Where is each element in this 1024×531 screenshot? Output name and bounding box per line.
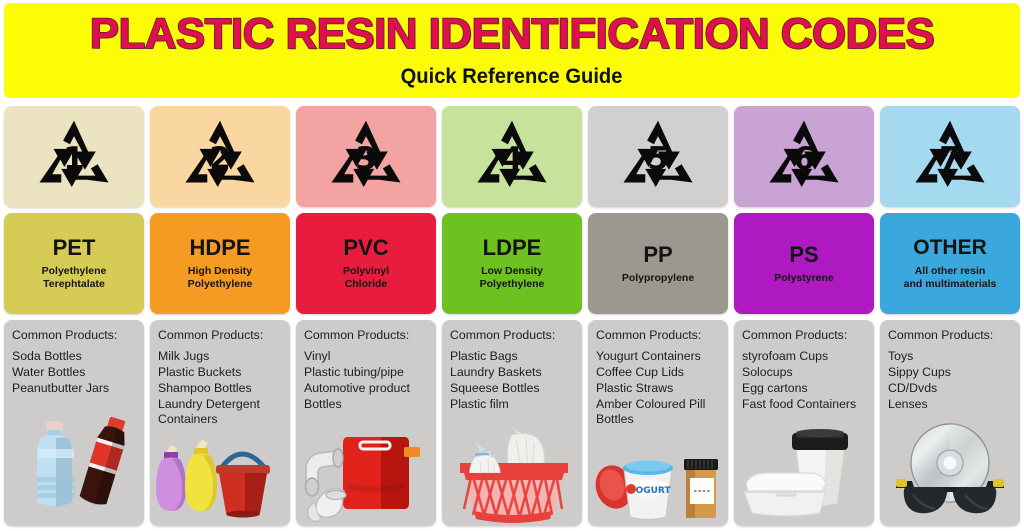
resin-fullname-line1: Polyvinyl (343, 265, 389, 278)
recycling-symbol-tile-7: 7 (880, 106, 1020, 207)
resin-number-6: 6 (793, 140, 815, 176)
list-item: Bottles (304, 397, 429, 413)
products-tile-4: Common Products: Plastic Bags Laundry Ba… (442, 320, 582, 526)
products-tile-3: Common Products: Vinyl Plastic tubing/pi… (296, 320, 436, 526)
resin-column-4: 4 LDPE Low Density Polyethylene Common P… (442, 106, 582, 526)
recycling-symbol-icon: 3 (320, 117, 412, 197)
products-tile-6: Common Products: styrofoam Cups Solocups… (734, 320, 874, 526)
products-tile-7: Common Products: Toys Sippy Cups CD/Dvds… (880, 320, 1020, 526)
products-list-6: styrofoam Cups Solocups Egg cartons Fast… (742, 349, 867, 412)
list-item: Automotive product (304, 381, 429, 397)
resin-name-tile-7: OTHER All other resin and multimaterials (880, 213, 1020, 314)
resin-fullname-line1: Polyethylene (42, 265, 107, 278)
resin-number-1: 1 (63, 140, 84, 176)
resin-number-4: 4 (501, 140, 523, 176)
list-item: Plastic Buckets (158, 365, 283, 381)
resin-column-3: 3 PVC Polyvinyl Chloride Common Products… (296, 106, 436, 526)
list-item: Plastic tubing/pipe (304, 365, 429, 381)
resin-fullname-line1: High Density (188, 265, 253, 278)
list-item: Peanutbutter Jars (12, 381, 137, 397)
recycling-symbol-tile-3: 3 (296, 106, 436, 207)
list-item: Containers (158, 412, 283, 428)
resin-fullname-7: All other resin and multimaterials (904, 265, 997, 291)
list-item: Laundry Baskets (450, 365, 575, 381)
products-heading-1: Common Products: (12, 328, 137, 343)
title-banner: PLASTIC RESIN IDENTIFICATION CODES Quick… (4, 3, 1020, 98)
resin-abbr-6: PS (789, 243, 818, 266)
list-item: Lenses (888, 397, 1013, 413)
illustration-foam-cup-and-clamshell (734, 429, 874, 523)
recycling-symbol-icon: 6 (758, 117, 850, 197)
list-item: Plastic Straws (596, 381, 721, 397)
illustration-laundry-basket-and-plastic-bags (442, 423, 582, 523)
recycling-symbol-icon: 4 (466, 117, 558, 197)
illustration-detergent-bottles-and-bucket (150, 437, 290, 523)
recycling-symbol-tile-4: 4 (442, 106, 582, 207)
resin-abbr-3: PVC (343, 236, 388, 259)
resin-code-grid: 1 PET Polyethylene Terephtalate Common P… (4, 106, 1020, 526)
list-item: Solocups (742, 365, 867, 381)
products-heading-4: Common Products: (450, 328, 575, 343)
illustration-water-bottle-and-soda-bottle (4, 411, 144, 523)
resin-fullname-4: Low Density Polyethylene (480, 265, 545, 291)
resin-fullname-line2: Polyethylene (480, 278, 545, 291)
list-item: Plastic Bags (450, 349, 575, 365)
illustration-yogurt-cup-lid-and-pill-bottle: YOGURT (588, 445, 728, 523)
list-item: Water Bottles (12, 365, 137, 381)
resin-column-5: 5 PP Polypropylene Common Products: Youg… (588, 106, 728, 526)
resin-number-7: 7 (939, 140, 961, 176)
list-item: Soda Bottles (12, 349, 137, 365)
resin-abbr-2: HDPE (189, 236, 250, 259)
products-list-3: Vinyl Plastic tubing/pipe Automotive pro… (304, 349, 429, 412)
recycling-symbol-icon: 1 (28, 117, 120, 197)
resin-column-2: 2 HDPE High Density Polyethylene Common … (150, 106, 290, 526)
list-item: Bottles (596, 412, 721, 428)
resin-fullname-line2: and multimaterials (904, 278, 997, 291)
products-list-2: Milk Jugs Plastic Buckets Shampoo Bottle… (158, 349, 283, 428)
resin-name-tile-4: LDPE Low Density Polyethylene (442, 213, 582, 314)
list-item: CD/Dvds (888, 381, 1013, 397)
resin-number-3: 3 (355, 140, 377, 176)
list-item: Sippy Cups (888, 365, 1013, 381)
illustration-jerry-can-and-pipe-fittings (296, 425, 436, 523)
products-list-4: Plastic Bags Laundry Baskets Squeese Bot… (450, 349, 575, 412)
resin-name-tile-2: HDPE High Density Polyethylene (150, 213, 290, 314)
recycling-symbol-tile-2: 2 (150, 106, 290, 207)
list-item: Amber Coloured Pill (596, 397, 721, 413)
resin-fullname-line2: Polyethylene (188, 278, 253, 291)
list-item: Shampoo Bottles (158, 381, 283, 397)
resin-abbr-1: PET (53, 236, 96, 259)
resin-column-7: 7 OTHER All other resin and multimateria… (880, 106, 1020, 526)
resin-fullname-line2: Terephtalate (42, 278, 107, 291)
resin-fullname-line1: Low Density (480, 265, 545, 278)
list-item: Milk Jugs (158, 349, 283, 365)
products-tile-1: Common Products: Soda Bottles Water Bott… (4, 320, 144, 526)
page-title: PLASTIC RESIN IDENTIFICATION CODES (90, 13, 934, 56)
list-item: Vinyl (304, 349, 429, 365)
resin-name-tile-5: PP Polypropylene (588, 213, 728, 314)
resin-fullname-line2: Chloride (343, 278, 389, 291)
infographic-page: PLASTIC RESIN IDENTIFICATION CODES Quick… (0, 0, 1024, 531)
recycling-symbol-tile-5: 5 (588, 106, 728, 207)
resin-abbr-4: LDPE (483, 236, 542, 259)
products-heading-7: Common Products: (888, 328, 1013, 343)
resin-name-tile-3: PVC Polyvinyl Chloride (296, 213, 436, 314)
resin-fullname-3: Polyvinyl Chloride (343, 265, 389, 291)
list-item: Fast food Containers (742, 397, 867, 413)
resin-fullname-5: Polypropylene (622, 272, 694, 285)
page-subtitle: Quick Reference Guide (401, 65, 623, 89)
resin-fullname-2: High Density Polyethylene (188, 265, 253, 291)
products-tile-5: Common Products: Yougurt Containers Coff… (588, 320, 728, 526)
products-list-1: Soda Bottles Water Bottles Peanutbutter … (12, 349, 137, 396)
resin-fullname-line1: Polypropylene (622, 272, 694, 285)
products-heading-2: Common Products: (158, 328, 283, 343)
list-item: styrofoam Cups (742, 349, 867, 365)
resin-abbr-5: PP (643, 243, 672, 266)
products-tile-2: Common Products: Milk Jugs Plastic Bucke… (150, 320, 290, 526)
recycling-symbol-icon: 7 (904, 117, 996, 197)
list-item: Laundry Detergent (158, 397, 283, 413)
recycling-symbol-tile-6: 6 (734, 106, 874, 207)
recycling-symbol-icon: 5 (612, 117, 704, 197)
products-heading-5: Common Products: (596, 328, 721, 343)
resin-fullname-6: Polystyrene (774, 272, 834, 285)
resin-column-6: 6 PS Polystyrene Common Products: styrof… (734, 106, 874, 526)
resin-fullname-line1: Polystyrene (774, 272, 834, 285)
products-list-7: Toys Sippy Cups CD/Dvds Lenses (888, 349, 1013, 412)
resin-fullname-line1: All other resin (904, 265, 997, 278)
resin-abbr-7: OTHER (913, 237, 987, 259)
resin-name-tile-1: PET Polyethylene Terephtalate (4, 213, 144, 314)
products-heading-6: Common Products: (742, 328, 867, 343)
resin-name-tile-6: PS Polystyrene (734, 213, 874, 314)
illustration-cd-and-sunglasses (880, 419, 1020, 523)
resin-column-1: 1 PET Polyethylene Terephtalate Common P… (4, 106, 144, 526)
recycling-symbol-icon: 2 (174, 117, 266, 197)
list-item: Plastic film (450, 397, 575, 413)
resin-number-2: 2 (209, 140, 231, 176)
products-list-5: Yougurt Containers Coffee Cup Lids Plast… (596, 349, 721, 428)
list-item: Toys (888, 349, 1013, 365)
resin-fullname-1: Polyethylene Terephtalate (42, 265, 107, 291)
list-item: Coffee Cup Lids (596, 365, 721, 381)
resin-number-5: 5 (647, 140, 669, 176)
list-item: Egg cartons (742, 381, 867, 397)
list-item: Yougurt Containers (596, 349, 721, 365)
list-item: Squeese Bottles (450, 381, 575, 397)
recycling-symbol-tile-1: 1 (4, 106, 144, 207)
products-heading-3: Common Products: (304, 328, 429, 343)
